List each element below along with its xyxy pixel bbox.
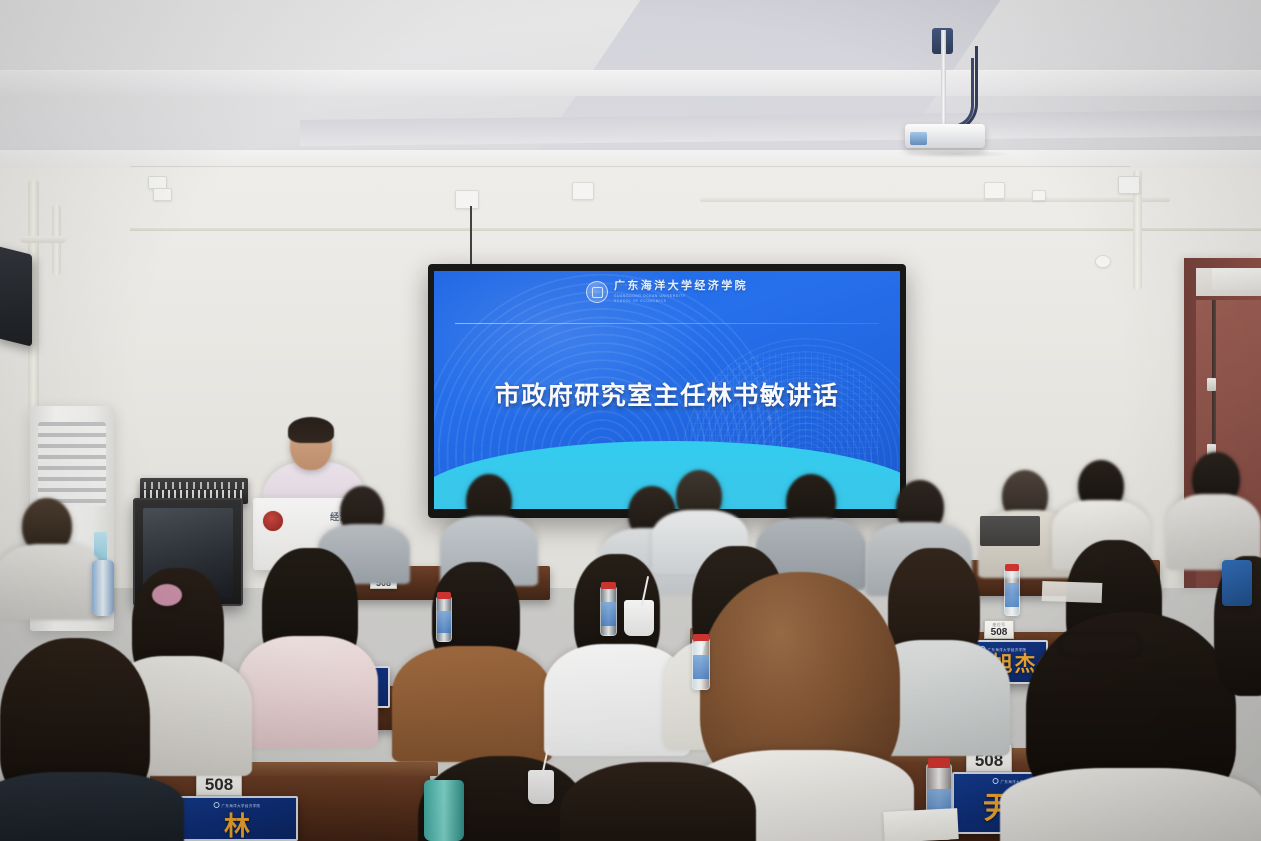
display-cable — [470, 206, 472, 266]
presenter-hair — [288, 417, 334, 443]
slide-org-logo: 广东海洋大学经济学院 GUANGDONG OCEAN UNIVERSITY SC… — [434, 281, 900, 303]
university-seal-icon — [586, 281, 608, 303]
slide-org-name-en-1: GUANGDONG OCEAN UNIVERSITY — [614, 295, 748, 298]
slide-org-name-cn: 广东海洋大学经济学院 — [614, 281, 748, 292]
audience-body-front-l1 — [0, 772, 184, 841]
audience-head-front-l3 — [560, 762, 756, 841]
wall-outlet-2 — [153, 188, 172, 201]
bottle-label — [601, 602, 616, 626]
bottle-label — [437, 611, 451, 633]
wall-sensor-center — [572, 182, 594, 200]
conference-room-photo: 广东海洋大学经济学院 GUANGDONG OCEAN UNIVERSITY SC… — [0, 0, 1261, 841]
projector-lens-icon — [910, 132, 927, 145]
projector-cable-secondary — [950, 58, 974, 128]
paper-document-2[interactable] — [1042, 581, 1103, 603]
wall-trim-line — [130, 166, 1130, 167]
audience-body-b10 — [0, 544, 104, 620]
door-latch-upper[interactable] — [1207, 378, 1216, 391]
seat-card-header: 座位号 — [985, 622, 1013, 628]
bottle-cap-3 — [693, 634, 709, 641]
audience-body-c1 — [238, 636, 378, 748]
mixer-knobs[interactable] — [144, 482, 244, 489]
audience-body-c2 — [392, 646, 552, 762]
ceiling-beam — [0, 70, 1261, 96]
ac-vent-grille — [38, 422, 106, 506]
water-bottle-4[interactable] — [1004, 568, 1020, 616]
slide-org-name-en-2: SCHOOL OF ECONOMICS — [614, 300, 748, 303]
nameplate-front-left: 广东海洋大学经济学院 林 — [176, 796, 298, 841]
bottle-cap-4 — [1005, 564, 1019, 571]
wall-screw-plate — [1032, 190, 1046, 201]
wall-trim-line-lower — [130, 228, 1261, 231]
seat-card-number: 508 — [205, 775, 233, 795]
wall-conduit — [700, 196, 1170, 202]
presentation-slide: 广东海洋大学经济学院 GUANGDONG OCEAN UNIVERSITY SC… — [434, 271, 900, 509]
thermos-bottle-2[interactable] — [424, 780, 464, 841]
seat-card-b1: 座位号 508 — [984, 620, 1014, 639]
bottle-cap-2 — [601, 582, 616, 589]
drink-cup-1[interactable] — [624, 600, 654, 636]
monitor-icon-1 — [980, 516, 1040, 546]
water-bottle-3[interactable] — [692, 638, 710, 690]
seat-card-number: 508 — [991, 627, 1008, 638]
seal-inner-mark — [592, 287, 603, 298]
hair-tie-accessory — [152, 584, 182, 606]
slide-divider — [455, 323, 879, 324]
university-emblem-icon — [262, 510, 284, 532]
bottle-label — [693, 655, 709, 679]
projector-pole — [941, 30, 946, 128]
bottle-cap-1 — [437, 592, 451, 599]
smartphone-icon[interactable] — [1222, 560, 1252, 606]
wall-speaker-bracket — [455, 190, 479, 209]
audience-body-front-r1 — [1000, 768, 1261, 841]
wall-speaker-icon — [0, 245, 32, 346]
wall-pipe-elbow — [20, 236, 66, 243]
eyeglasses-icon — [1058, 632, 1142, 658]
wall-sensor-right — [984, 182, 1005, 199]
nameplate-name: 林 — [178, 806, 296, 841]
water-bottle-2[interactable] — [600, 586, 617, 636]
wall-dome-sensor — [1095, 255, 1111, 268]
water-bottle-1[interactable] — [436, 596, 452, 642]
projector-shadow — [900, 150, 1010, 158]
door-upper-glass — [1212, 268, 1261, 290]
paper-document-1[interactable] — [883, 808, 959, 841]
bottle-cap-5 — [928, 758, 950, 768]
bottle-label — [1005, 583, 1019, 607]
slide-title: 市政府研究室主任林书敏讲话 — [434, 376, 900, 412]
thermos-bottle-1[interactable] — [92, 560, 114, 616]
wall-sensor-far-right — [1118, 176, 1140, 194]
